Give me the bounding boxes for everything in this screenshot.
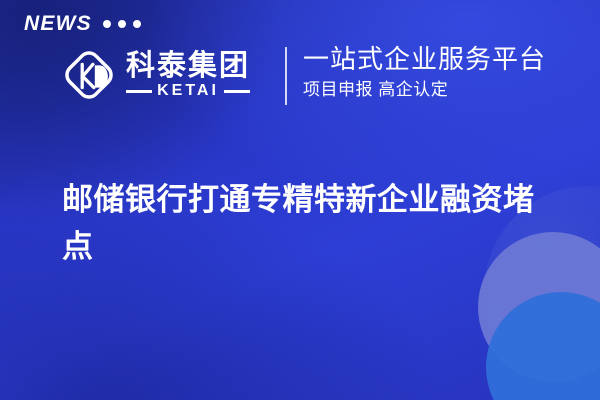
news-label: NEWS bbox=[24, 13, 92, 34]
article-headline: 邮储银行打通专精特新企业融资堵点 bbox=[62, 176, 552, 270]
slogan-block: 一站式企业服务平台 项目申报 高企认定 bbox=[303, 44, 546, 100]
logo-slogan-divider bbox=[285, 47, 287, 105]
news-eyebrow: NEWS bbox=[24, 13, 141, 34]
eyebrow-dot bbox=[133, 20, 141, 28]
company-logo-lockup: 科泰集团 KETAI bbox=[58, 44, 250, 106]
eyebrow-dot bbox=[118, 20, 126, 28]
logo-english-row: KETAI bbox=[126, 83, 250, 99]
logo-company-name-cn: 科泰集团 bbox=[126, 51, 250, 81]
slogan-main-text: 一站式企业服务平台 bbox=[303, 44, 546, 75]
logo-company-name-en: KETAI bbox=[157, 83, 219, 99]
eyebrow-dots-icon bbox=[103, 20, 141, 28]
logo-wordmark: 科泰集团 KETAI bbox=[126, 51, 250, 99]
eyebrow-dot bbox=[103, 20, 111, 28]
slogan-sub-text: 项目申报 高企认定 bbox=[303, 79, 546, 100]
logo-rule-left bbox=[126, 90, 152, 93]
ketai-diamond-monogram-icon bbox=[58, 44, 120, 106]
logo-rule-right bbox=[224, 90, 250, 93]
news-banner: NEWS 科泰集团 K bbox=[0, 0, 600, 400]
